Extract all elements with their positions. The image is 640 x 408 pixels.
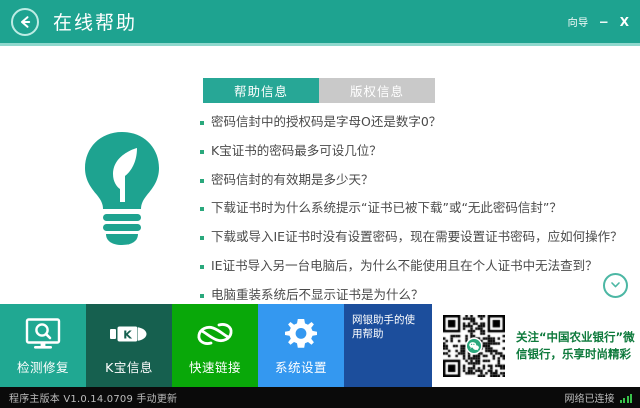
close-button[interactable]: X	[619, 16, 630, 28]
promo-text: 关注“中国农业银行”微信银行，乐享时尚精彩	[516, 329, 640, 362]
chevron-down-icon	[609, 276, 622, 295]
content-area: 帮助信息 版权信息 密码信封中的授权码是字母O还是数字0？ K宝证书的密码最多可…	[0, 46, 640, 304]
signal-bars-icon	[620, 393, 633, 403]
network-text: 网络已连接	[565, 390, 615, 405]
link-chain-icon	[196, 315, 234, 353]
page-title: 在线帮助	[53, 8, 137, 35]
bullet-icon	[200, 207, 204, 211]
bullet-icon	[200, 294, 204, 298]
list-item[interactable]: K宝证书的密码最多可设几位？	[200, 143, 622, 159]
faq-text: 密码信封的有效期是多少天？	[211, 172, 374, 188]
list-item[interactable]: IE证书导入另一台电脑后，为什么不能使用且在个人证书中无法查到？	[200, 258, 622, 274]
ebank-assistant-help-panel[interactable]: 网银助手的使用帮助	[344, 304, 432, 387]
tile-label: 系统设置	[275, 357, 327, 376]
list-item[interactable]: 密码信封中的授权码是字母O还是数字0？	[200, 114, 622, 130]
bullet-icon	[200, 265, 204, 269]
faq-text: 密码信封中的授权码是字母O还是数字0？	[211, 114, 441, 130]
tile-label: 快速链接	[189, 357, 241, 376]
title-bar: 在线帮助 向导 − X	[0, 0, 640, 43]
wechat-promo-banner: 关注“中国农业银行”微信银行，乐享时尚精彩	[432, 304, 640, 387]
monitor-search-icon	[25, 315, 61, 353]
bottom-toolbar: 检测修复 K K宝信息 快速链接	[0, 304, 640, 387]
tile-label: K宝信息	[105, 357, 153, 376]
usb-key-icon: K	[109, 315, 149, 353]
window-controls: 向导 − X	[568, 14, 630, 29]
tab-copyright-info[interactable]: 版权信息	[319, 78, 435, 103]
online-help-window: 在线帮助 向导 − X 帮助信息 版权信息 密码信封中的授权码是字母O还	[0, 0, 640, 408]
tile-quick-links[interactable]: 快速链接	[172, 304, 258, 387]
network-status: 网络已连接	[565, 390, 633, 405]
version-text[interactable]: 程序主版本 V1.0.14.0709 手动更新	[9, 390, 177, 405]
back-button[interactable]	[11, 8, 39, 36]
faq-text: 下载证书时为什么系统提示“证书已被下载”或“无此密码信封”？	[211, 200, 562, 216]
lightbulb-leaf-icon	[79, 130, 165, 248]
gear-icon	[285, 315, 317, 353]
tab-bar: 帮助信息 版权信息	[203, 78, 435, 103]
faq-text: K宝证书的密码最多可设几位？	[211, 143, 382, 159]
tile-label: 检测修复	[17, 357, 69, 376]
tile-ukey-info[interactable]: K K宝信息	[86, 304, 172, 387]
faq-list: 密码信封中的授权码是字母O还是数字0？ K宝证书的密码最多可设几位？ 密码信封的…	[200, 114, 622, 304]
svg-text:K: K	[123, 328, 132, 341]
list-item[interactable]: 下载或导入IE证书时没有设置密码，现在需要设置证书密码，应如何操作？	[200, 229, 622, 245]
wechat-icon	[466, 337, 483, 354]
wizard-button[interactable]: 向导	[568, 14, 589, 29]
back-arrow-icon	[17, 14, 33, 30]
tile-detect-repair[interactable]: 检测修复	[0, 304, 86, 387]
tile-system-settings[interactable]: 系统设置	[258, 304, 344, 387]
status-bar: 程序主版本 V1.0.14.0709 手动更新 网络已连接	[0, 387, 640, 408]
bullet-icon	[200, 150, 204, 154]
faq-text: 下载或导入IE证书时没有设置密码，现在需要设置证书密码，应如何操作？	[211, 229, 623, 245]
bullet-icon	[200, 236, 204, 240]
faq-text: 电脑重装系统后不显示证书是为什么？	[211, 287, 424, 303]
qr-code-icon[interactable]	[443, 315, 505, 377]
list-item[interactable]: 密码信封的有效期是多少天？	[200, 172, 622, 188]
scroll-down-button[interactable]	[603, 273, 628, 298]
bullet-icon	[200, 121, 204, 125]
minimize-button[interactable]: −	[598, 16, 610, 28]
bullet-icon	[200, 179, 204, 183]
list-item[interactable]: 电脑重装系统后不显示证书是为什么？	[200, 287, 622, 303]
faq-text: IE证书导入另一台电脑后，为什么不能使用且在个人证书中无法查到？	[211, 258, 598, 274]
tab-help-info[interactable]: 帮助信息	[203, 78, 319, 103]
list-item[interactable]: 下载证书时为什么系统提示“证书已被下载”或“无此密码信封”？	[200, 200, 622, 216]
